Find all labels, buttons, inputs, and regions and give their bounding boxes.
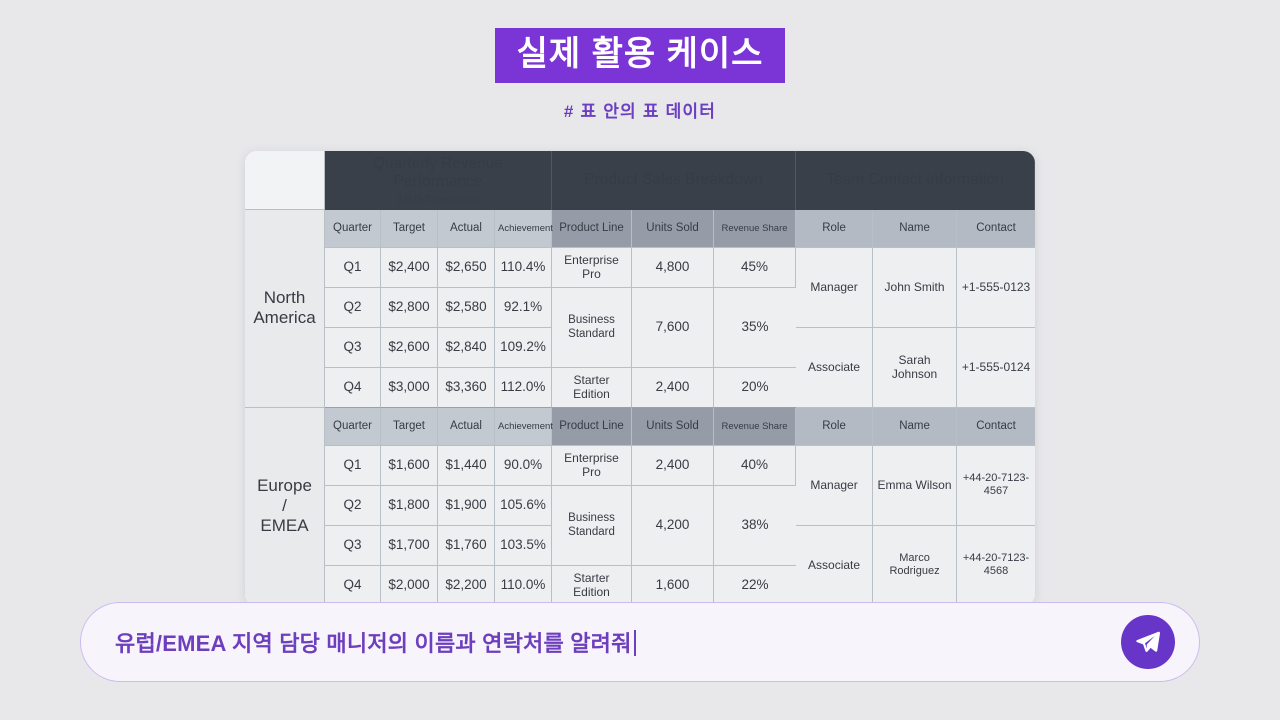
send-button[interactable] xyxy=(1121,615,1175,669)
subheader-role: Role xyxy=(796,210,873,248)
cell-actual: $1,440 xyxy=(438,446,495,486)
cell-achievement: 103.5% xyxy=(495,526,552,566)
group-header-quarterly-label: Quarterly Revenue Performance xyxy=(373,155,503,190)
cell-target: $2,400 xyxy=(381,248,438,288)
cell-actual: $2,840 xyxy=(438,328,495,368)
cell-target: $1,600 xyxy=(381,446,438,486)
subheader-row-europe-emea: Europe / EMEA Quarter Target Actual Achi… xyxy=(245,408,1035,446)
subheader-revenue-share: Revenue Share xyxy=(714,210,796,248)
subheader-product-line: Product Line xyxy=(552,210,632,248)
cell-quarter: Q1 xyxy=(325,446,381,486)
page-header: 실제 활용 케이스 # 표 안의 표 데이터 xyxy=(0,0,1280,122)
subheader-target: Target xyxy=(381,408,438,446)
cell-target: $3,000 xyxy=(381,368,438,408)
cell-actual: $2,580 xyxy=(438,288,495,328)
subheader-quarter: Quarter xyxy=(325,210,381,248)
cell-revenue-share: 40% xyxy=(714,446,796,486)
cell-target: $2,800 xyxy=(381,288,438,328)
cell-actual: $2,650 xyxy=(438,248,495,288)
group-header-quarterly: Quarterly Revenue Performance (USD Thous… xyxy=(325,151,552,210)
region-label-europe-emea: Europe / EMEA xyxy=(245,408,325,606)
cell-quarter: Q4 xyxy=(325,368,381,408)
cell-achievement: 112.0% xyxy=(495,368,552,408)
subheader-contact: Contact xyxy=(957,210,1035,248)
prompt-input-text: 유럽/EMEA 지역 담당 매니저의 이름과 연락처를 알려줘 xyxy=(115,631,632,656)
subheader-actual: Actual xyxy=(438,408,495,446)
cell-revenue-share: 38% xyxy=(714,486,796,566)
cell-revenue-share: 35% xyxy=(714,288,796,368)
cell-units-sold: 4,800 xyxy=(632,248,714,288)
cell-target: $1,700 xyxy=(381,526,438,566)
subheader-achievement: Achievement xyxy=(495,210,552,248)
cell-product-line: Business Standard xyxy=(552,288,632,368)
cell-revenue-share: 22% xyxy=(714,566,796,606)
prompt-input-bar[interactable]: 유럽/EMEA 지역 담당 매니저의 이름과 연락처를 알려줘 xyxy=(80,602,1200,682)
cell-target: $2,000 xyxy=(381,566,438,606)
subheader-name: Name xyxy=(873,408,957,446)
cell-name: Sarah Johnson xyxy=(873,328,957,408)
cell-role: Associate xyxy=(796,526,873,606)
region-label-line: Europe xyxy=(247,476,322,496)
cell-contact: +1-555-0123 xyxy=(957,248,1035,328)
group-header-product-label: Product Sales Breakdown xyxy=(584,171,762,188)
table-row: Q1 $1,600 $1,440 90.0% Enterprise Pro 2,… xyxy=(245,446,1035,486)
cell-name: John Smith xyxy=(873,248,957,328)
cell-achievement: 105.6% xyxy=(495,486,552,526)
cell-quarter: Q3 xyxy=(325,328,381,368)
cell-quarter: Q4 xyxy=(325,566,381,606)
subheader-actual: Actual xyxy=(438,210,495,248)
cell-contact: +44-20-7123-4568 xyxy=(957,526,1035,606)
subheader-units-sold: Units Sold xyxy=(632,210,714,248)
group-header-product: Product Sales Breakdown xyxy=(552,151,796,210)
cell-quarter: Q3 xyxy=(325,526,381,566)
cell-achievement: 110.0% xyxy=(495,566,552,606)
subheader-target: Target xyxy=(381,210,438,248)
subheader-achievement: Achievement xyxy=(495,408,552,446)
cell-revenue-share: 45% xyxy=(714,248,796,288)
subheader-units-sold: Units Sold xyxy=(632,408,714,446)
group-header-contact-label: Team Contact Information xyxy=(826,171,1003,188)
cell-contact: +1-555-0124 xyxy=(957,328,1035,408)
cell-name: Emma Wilson xyxy=(873,446,957,526)
subheader-product-line: Product Line xyxy=(552,408,632,446)
cell-name: Marco Rodriguez xyxy=(873,526,957,606)
cell-units-sold: 2,400 xyxy=(632,446,714,486)
cell-actual: $3,360 xyxy=(438,368,495,408)
cell-target: $2,600 xyxy=(381,328,438,368)
cell-units-sold: 1,600 xyxy=(632,566,714,606)
cell-product-line: Starter Edition xyxy=(552,368,632,408)
subheader-role: Role xyxy=(796,408,873,446)
region-label-line: North xyxy=(247,288,322,308)
group-header-quarterly-sublabel: (USD Thousands) xyxy=(331,194,545,206)
page-subtitle: # 표 안의 표 데이터 xyxy=(0,97,1280,122)
cell-product-line: Enterprise Pro xyxy=(552,446,632,486)
product-line-text: Standard xyxy=(555,525,628,539)
region-label-north-america: North America xyxy=(245,210,325,408)
subheader-row-north-america: North America Quarter Target Actual Achi… xyxy=(245,210,1035,248)
page-title: 실제 활용 케이스 xyxy=(495,28,786,83)
product-line-text: Business xyxy=(555,511,628,525)
prompt-input[interactable]: 유럽/EMEA 지역 담당 매니저의 이름과 연락처를 알려줘 xyxy=(115,626,1121,658)
group-header-row: Quarterly Revenue Performance (USD Thous… xyxy=(245,151,1035,210)
cell-quarter: Q1 xyxy=(325,248,381,288)
cell-role: Manager xyxy=(796,248,873,328)
subheader-revenue-share: Revenue Share xyxy=(714,408,796,446)
cell-quarter: Q2 xyxy=(325,288,381,328)
corner-cell xyxy=(245,151,325,210)
region-label-line: / xyxy=(247,496,322,516)
cell-actual: $2,200 xyxy=(438,566,495,606)
nested-table-card: Quarterly Revenue Performance (USD Thous… xyxy=(245,151,1035,606)
cell-actual: $1,900 xyxy=(438,486,495,526)
subheader-contact: Contact xyxy=(957,408,1035,446)
cell-achievement: 92.1% xyxy=(495,288,552,328)
text-caret xyxy=(634,630,636,656)
group-header-contact: Team Contact Information xyxy=(796,151,1035,210)
region-label-line: America xyxy=(247,308,322,328)
cell-product-line: Enterprise Pro xyxy=(552,248,632,288)
cell-role: Associate xyxy=(796,328,873,408)
cell-product-line: Starter Edition xyxy=(552,566,632,606)
subheader-name: Name xyxy=(873,210,957,248)
product-line-text: Standard xyxy=(555,327,628,341)
cell-achievement: 109.2% xyxy=(495,328,552,368)
subheader-quarter: Quarter xyxy=(325,408,381,446)
cell-units-sold: 4,200 xyxy=(632,486,714,566)
table-row: Q1 $2,400 $2,650 110.4% Enterprise Pro 4… xyxy=(245,248,1035,288)
nested-data-table: Quarterly Revenue Performance (USD Thous… xyxy=(245,151,1035,606)
cell-revenue-share: 20% xyxy=(714,368,796,408)
paper-plane-icon xyxy=(1134,628,1162,656)
cell-actual: $1,760 xyxy=(438,526,495,566)
cell-contact: +44-20-7123-4567 xyxy=(957,446,1035,526)
cell-target: $1,800 xyxy=(381,486,438,526)
cell-achievement: 110.4% xyxy=(495,248,552,288)
cell-product-line: Business Standard xyxy=(552,486,632,566)
cell-units-sold: 2,400 xyxy=(632,368,714,408)
product-line-text: Business xyxy=(555,313,628,327)
cell-achievement: 90.0% xyxy=(495,446,552,486)
cell-units-sold: 7,600 xyxy=(632,288,714,368)
cell-quarter: Q2 xyxy=(325,486,381,526)
cell-role: Manager xyxy=(796,446,873,526)
region-label-line: EMEA xyxy=(247,516,322,536)
